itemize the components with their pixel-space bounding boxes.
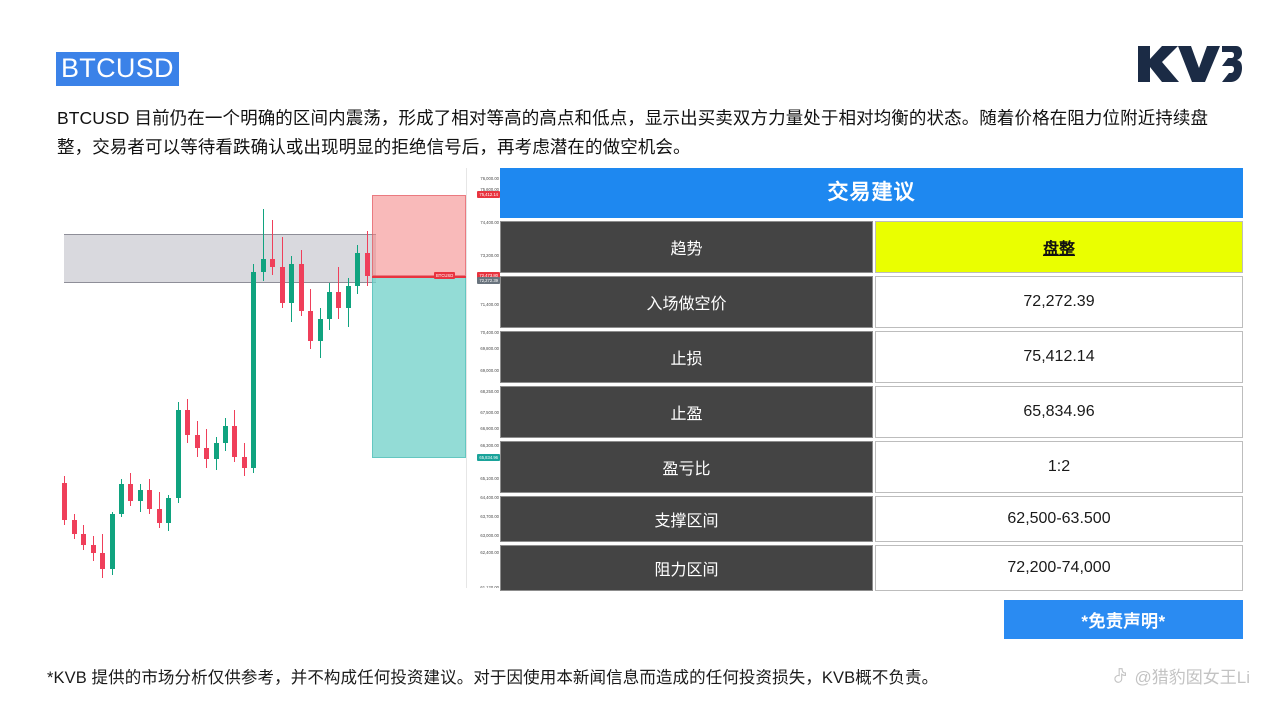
- candle-body: [110, 514, 115, 569]
- axis-tick-label: 64,400.00: [480, 495, 499, 500]
- axis-tick-label: 63,700.00: [480, 514, 499, 519]
- axis-tick-label: 63,000.00: [480, 533, 499, 538]
- candle-body: [157, 509, 162, 523]
- candle-body: [232, 426, 237, 456]
- table-row-value: 72,272.39: [875, 276, 1243, 328]
- candle-body: [185, 410, 190, 435]
- candle-body: [365, 253, 370, 276]
- axis-tick-label: 66,300.00: [480, 443, 499, 448]
- axis-tick-label: 66,900.00: [480, 426, 499, 431]
- table-row-value: 65,834.96: [875, 386, 1243, 438]
- axis-tick-label: 69,800.00: [480, 346, 499, 351]
- resistance-band[interactable]: [64, 234, 376, 283]
- axis-tick-label: 73,200.00: [480, 253, 499, 258]
- table-row-value: 62,500-63.500: [875, 496, 1243, 542]
- table-row: 阻力区间72,200-74,000: [500, 545, 1243, 591]
- table-row: 止盈65,834.96: [500, 386, 1243, 438]
- candle-body: [299, 264, 304, 311]
- candle-body: [62, 483, 67, 520]
- disclaimer-button[interactable]: *免责声明*: [1004, 600, 1243, 639]
- take-profit-zone[interactable]: [372, 276, 466, 458]
- axis-tick-label: 62,400.00: [480, 550, 499, 555]
- candle-body: [336, 292, 341, 308]
- candle-body: [214, 443, 219, 459]
- table-row-label: 趋势: [500, 221, 873, 273]
- axis-tag-entry: 72,272.39: [477, 277, 500, 284]
- candle-body: [138, 490, 143, 501]
- table-row-label: 止损: [500, 331, 873, 383]
- axis-tick-label: 65,100.00: [480, 476, 499, 481]
- axis-tick-label: 69,000.00: [480, 368, 499, 373]
- candle-body: [261, 259, 266, 273]
- table-row-label: 支撑区间: [500, 496, 873, 542]
- table-row: 支撑区间62,500-63.500: [500, 496, 1243, 542]
- table-row-label: 盈亏比: [500, 441, 873, 493]
- kvb-logo: [1136, 40, 1242, 82]
- table-row-label: 止盈: [500, 386, 873, 438]
- candle-wick: [272, 220, 273, 275]
- chart-plot-area[interactable]: BTCUSD: [0, 168, 466, 588]
- table-row-value: 1:2: [875, 441, 1243, 493]
- axis-tick-label: 74,400.00: [480, 220, 499, 225]
- candle-body: [195, 435, 200, 449]
- table-row: 入场做空价72,272.39: [500, 276, 1243, 328]
- axis-tick-label: 76,000.00: [480, 176, 499, 181]
- table-row-value: 72,200-74,000: [875, 545, 1243, 591]
- axis-tag-stop-loss: 75,412.14: [477, 191, 500, 198]
- candle-body: [204, 448, 209, 459]
- table-body: 趋势盘整入场做空价72,272.39止损75,412.14止盈65,834.96…: [500, 221, 1243, 591]
- candle-body: [289, 264, 294, 302]
- candle-body: [280, 267, 285, 303]
- candle-body: [128, 484, 133, 500]
- table-row-value: 盘整: [875, 221, 1243, 273]
- analysis-paragraph: BTCUSD 目前仍在一个明确的区间内震荡，形成了相对等高的高点和低点，显示出买…: [57, 104, 1243, 162]
- footer-disclaimer-text: *KVB 提供的市场分析仅供参考，并不构成任何投资建议。对于因使用本新闻信息而造…: [47, 664, 938, 688]
- axis-tick-label: 70,400.00: [480, 330, 499, 335]
- music-note-icon: [1111, 667, 1128, 684]
- table-header: 交易建议: [500, 168, 1243, 218]
- axis-tick-label: 67,500.00: [480, 410, 499, 415]
- candle-body: [251, 272, 256, 467]
- table-row-value: 75,412.14: [875, 331, 1243, 383]
- axis-tick-label: 71,400.00: [480, 302, 499, 307]
- watermark: @猎豹囡女王Li: [1111, 663, 1251, 688]
- table-row-label: 阻力区间: [500, 545, 873, 591]
- candle-body: [81, 534, 86, 545]
- price-chart[interactable]: BTCUSD 76,000.0075,600.0074,400.0073,200…: [0, 168, 500, 588]
- table-row: 趋势盘整: [500, 221, 1243, 273]
- watermark-handle: @猎豹囡女王Li: [1135, 663, 1251, 688]
- candle-body: [166, 498, 171, 523]
- candle-body: [308, 311, 313, 341]
- candle-body: [355, 253, 360, 286]
- candle-body: [72, 520, 77, 534]
- candle-body: [176, 410, 181, 498]
- candle-body: [91, 545, 96, 553]
- stop-loss-zone[interactable]: [372, 195, 466, 276]
- table-row-label: 入场做空价: [500, 276, 873, 328]
- trade-suggestion-table: 交易建议 趋势盘整入场做空价72,272.39止损75,412.14止盈65,8…: [500, 168, 1243, 591]
- candle-body: [327, 292, 332, 319]
- candle-body: [270, 259, 275, 267]
- candle-body: [346, 286, 351, 308]
- candle-body: [242, 457, 247, 468]
- symbol-price-flag: BTCUSD: [434, 272, 455, 279]
- table-row: 盈亏比1:2: [500, 441, 1243, 493]
- axis-tick-label: 68,250.00: [480, 389, 499, 394]
- candle-body: [100, 553, 105, 569]
- table-row: 止损75,412.14: [500, 331, 1243, 383]
- axis-tick-label: 61,120.00: [480, 585, 499, 588]
- candle-body: [147, 490, 152, 509]
- candle-body: [318, 319, 323, 341]
- candle-body: [223, 426, 228, 442]
- candle-body: [119, 484, 124, 514]
- axis-tag-take-profit: 65,834.96: [477, 454, 500, 461]
- price-axis[interactable]: 76,000.0075,600.0074,400.0073,200.0071,4…: [466, 168, 500, 588]
- page-title: BTCUSD: [56, 52, 179, 86]
